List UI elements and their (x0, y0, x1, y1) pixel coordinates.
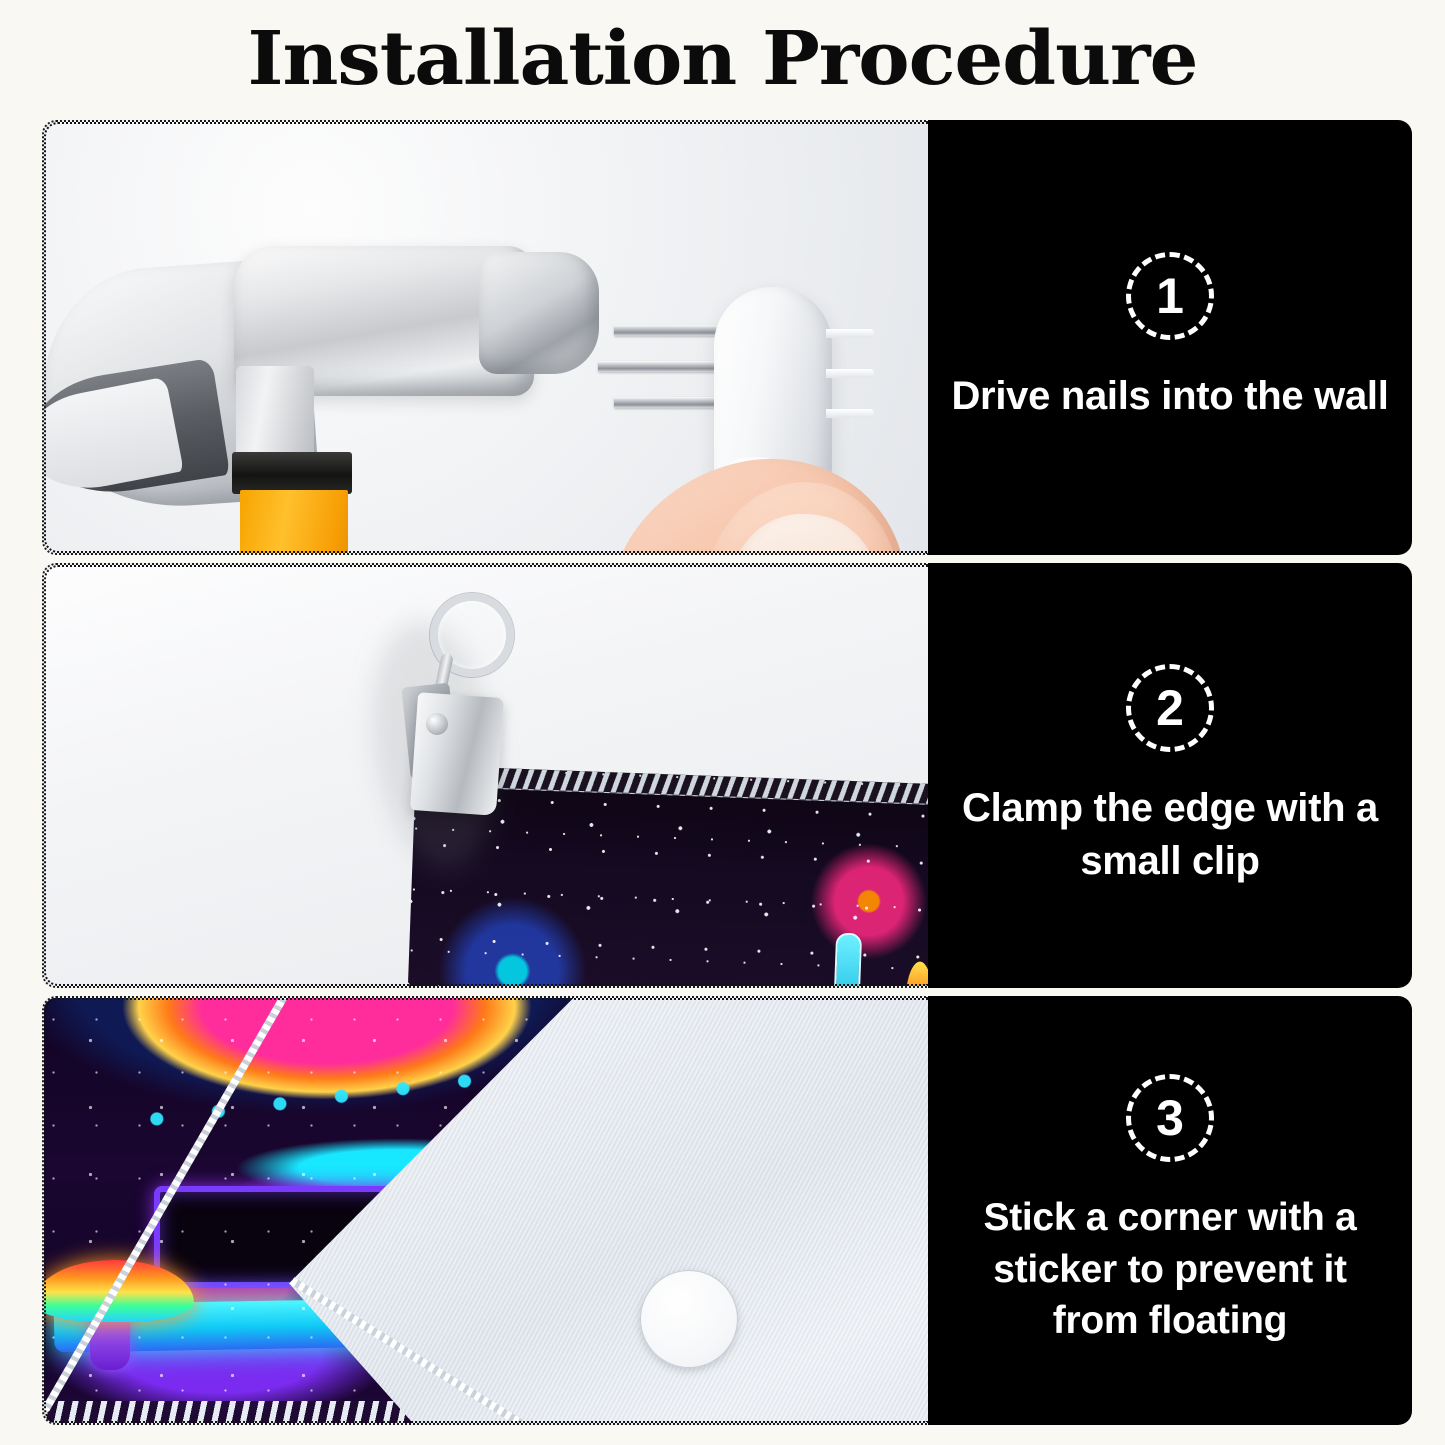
step-2-label: Clamp the edge with a small clip (928, 782, 1412, 888)
step-3-label: Stick a corner with a sticker to prevent… (928, 1192, 1412, 1346)
neon-hand-graphic (806, 932, 872, 988)
hammer-neck (236, 366, 314, 466)
step-number-badge-3: 3 (1126, 1074, 1214, 1162)
round-adhesive-sticker (640, 1270, 738, 1368)
step-row-3: 3 Stick a corner with a sticker to preve… (42, 996, 1412, 1425)
step-number-badge-1: 1 (1126, 252, 1214, 340)
clip-hinge (426, 713, 448, 735)
page-title: Installation Procedure (0, 13, 1445, 105)
step-number-badge-2: 2 (1126, 664, 1214, 752)
clip-body (410, 692, 504, 816)
hook-tab-1 (826, 329, 874, 338)
mushroom-cap (44, 1260, 194, 1322)
step-1-text-panel: 1 Drive nails into the wall (928, 120, 1412, 555)
hammer-ferrule-band (232, 452, 352, 494)
hook-tab-2 (826, 369, 874, 378)
step-row-2: 2 Clamp the edge with a small clip (42, 563, 1412, 988)
step-3-text-panel: 3 Stick a corner with a sticker to preve… (928, 996, 1412, 1425)
hammer-face (479, 252, 599, 374)
hammer-handle (240, 490, 348, 555)
step-2-photo (42, 563, 928, 988)
hook-tab-3 (826, 409, 874, 418)
claw-hammer-illustration (42, 240, 604, 540)
step-3-photo (42, 996, 928, 1425)
step-row-1: 1 Drive nails into the wall (42, 120, 1412, 555)
hand-index-finger (833, 933, 862, 988)
step-1-label: Drive nails into the wall (929, 370, 1410, 423)
step-2-text-panel: 2 Clamp the edge with a small clip (928, 563, 1412, 988)
step-1-photo (42, 120, 928, 555)
